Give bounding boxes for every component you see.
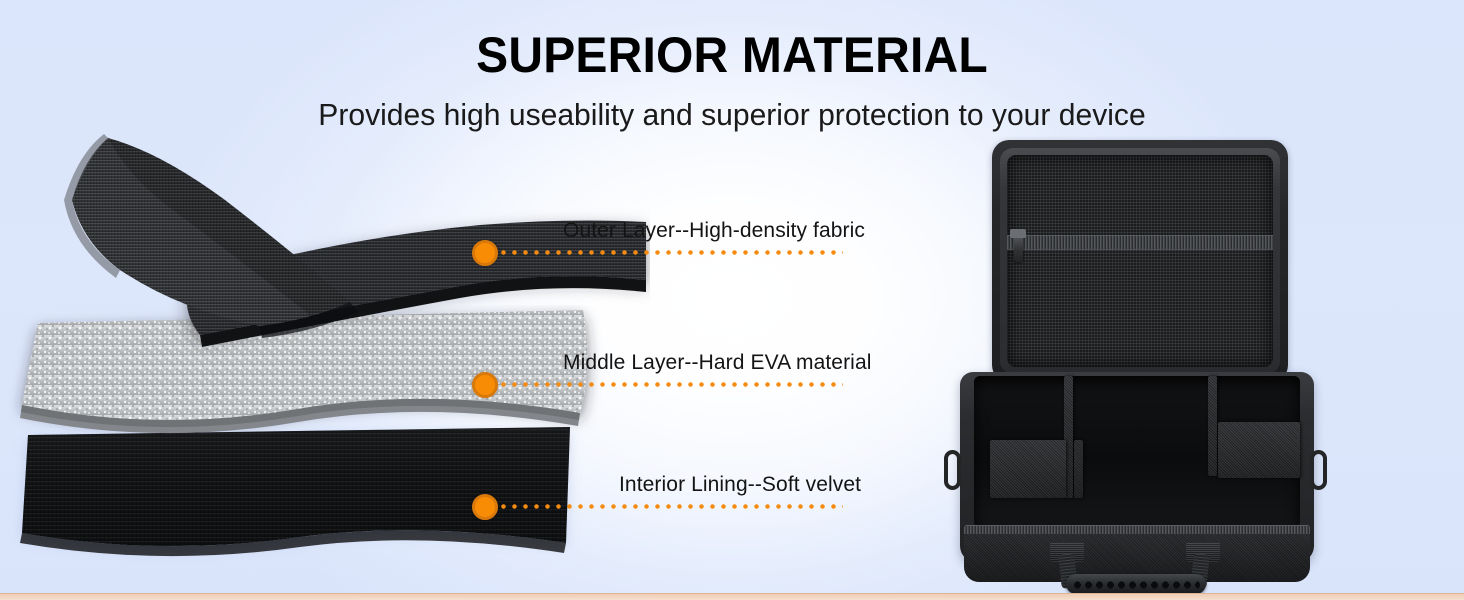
handle-perforations	[1072, 580, 1200, 590]
callout-dot-icon	[472, 372, 498, 398]
case-lid-mesh-pocket	[1007, 155, 1273, 367]
superior-material-banner: SUPERIOR MATERIAL Provides high useabili…	[0, 0, 1464, 600]
case-divider	[1074, 440, 1083, 498]
material-layer-stack	[0, 130, 660, 580]
case-divider	[1218, 422, 1300, 478]
callout-dot-icon	[472, 494, 498, 520]
callout-dotted-line	[498, 250, 843, 255]
callout-dotted-line	[498, 504, 843, 509]
side-loop	[944, 450, 961, 490]
bottom-accent-strip	[0, 593, 1464, 600]
callout-dotted-line	[498, 382, 843, 387]
product-case-photo	[930, 140, 1340, 592]
callout-label-outer-layer: Outer Layer--High-density fabric	[563, 219, 865, 243]
callout-label-interior-lining: Interior Lining--Soft velvet	[619, 473, 861, 497]
page-subtitle: Provides high useability and superior pr…	[22, 96, 1442, 133]
lid-zipper	[1007, 235, 1273, 250]
case-divider	[1208, 376, 1217, 476]
case-divider	[990, 440, 1066, 498]
page-title: SUPERIOR MATERIAL	[29, 30, 1434, 80]
callout-dot-icon	[472, 240, 498, 266]
zipper-slider-icon	[1010, 229, 1026, 238]
callout-label-middle-layer: Middle Layer--Hard EVA material	[563, 351, 872, 375]
side-loop	[1310, 450, 1327, 490]
